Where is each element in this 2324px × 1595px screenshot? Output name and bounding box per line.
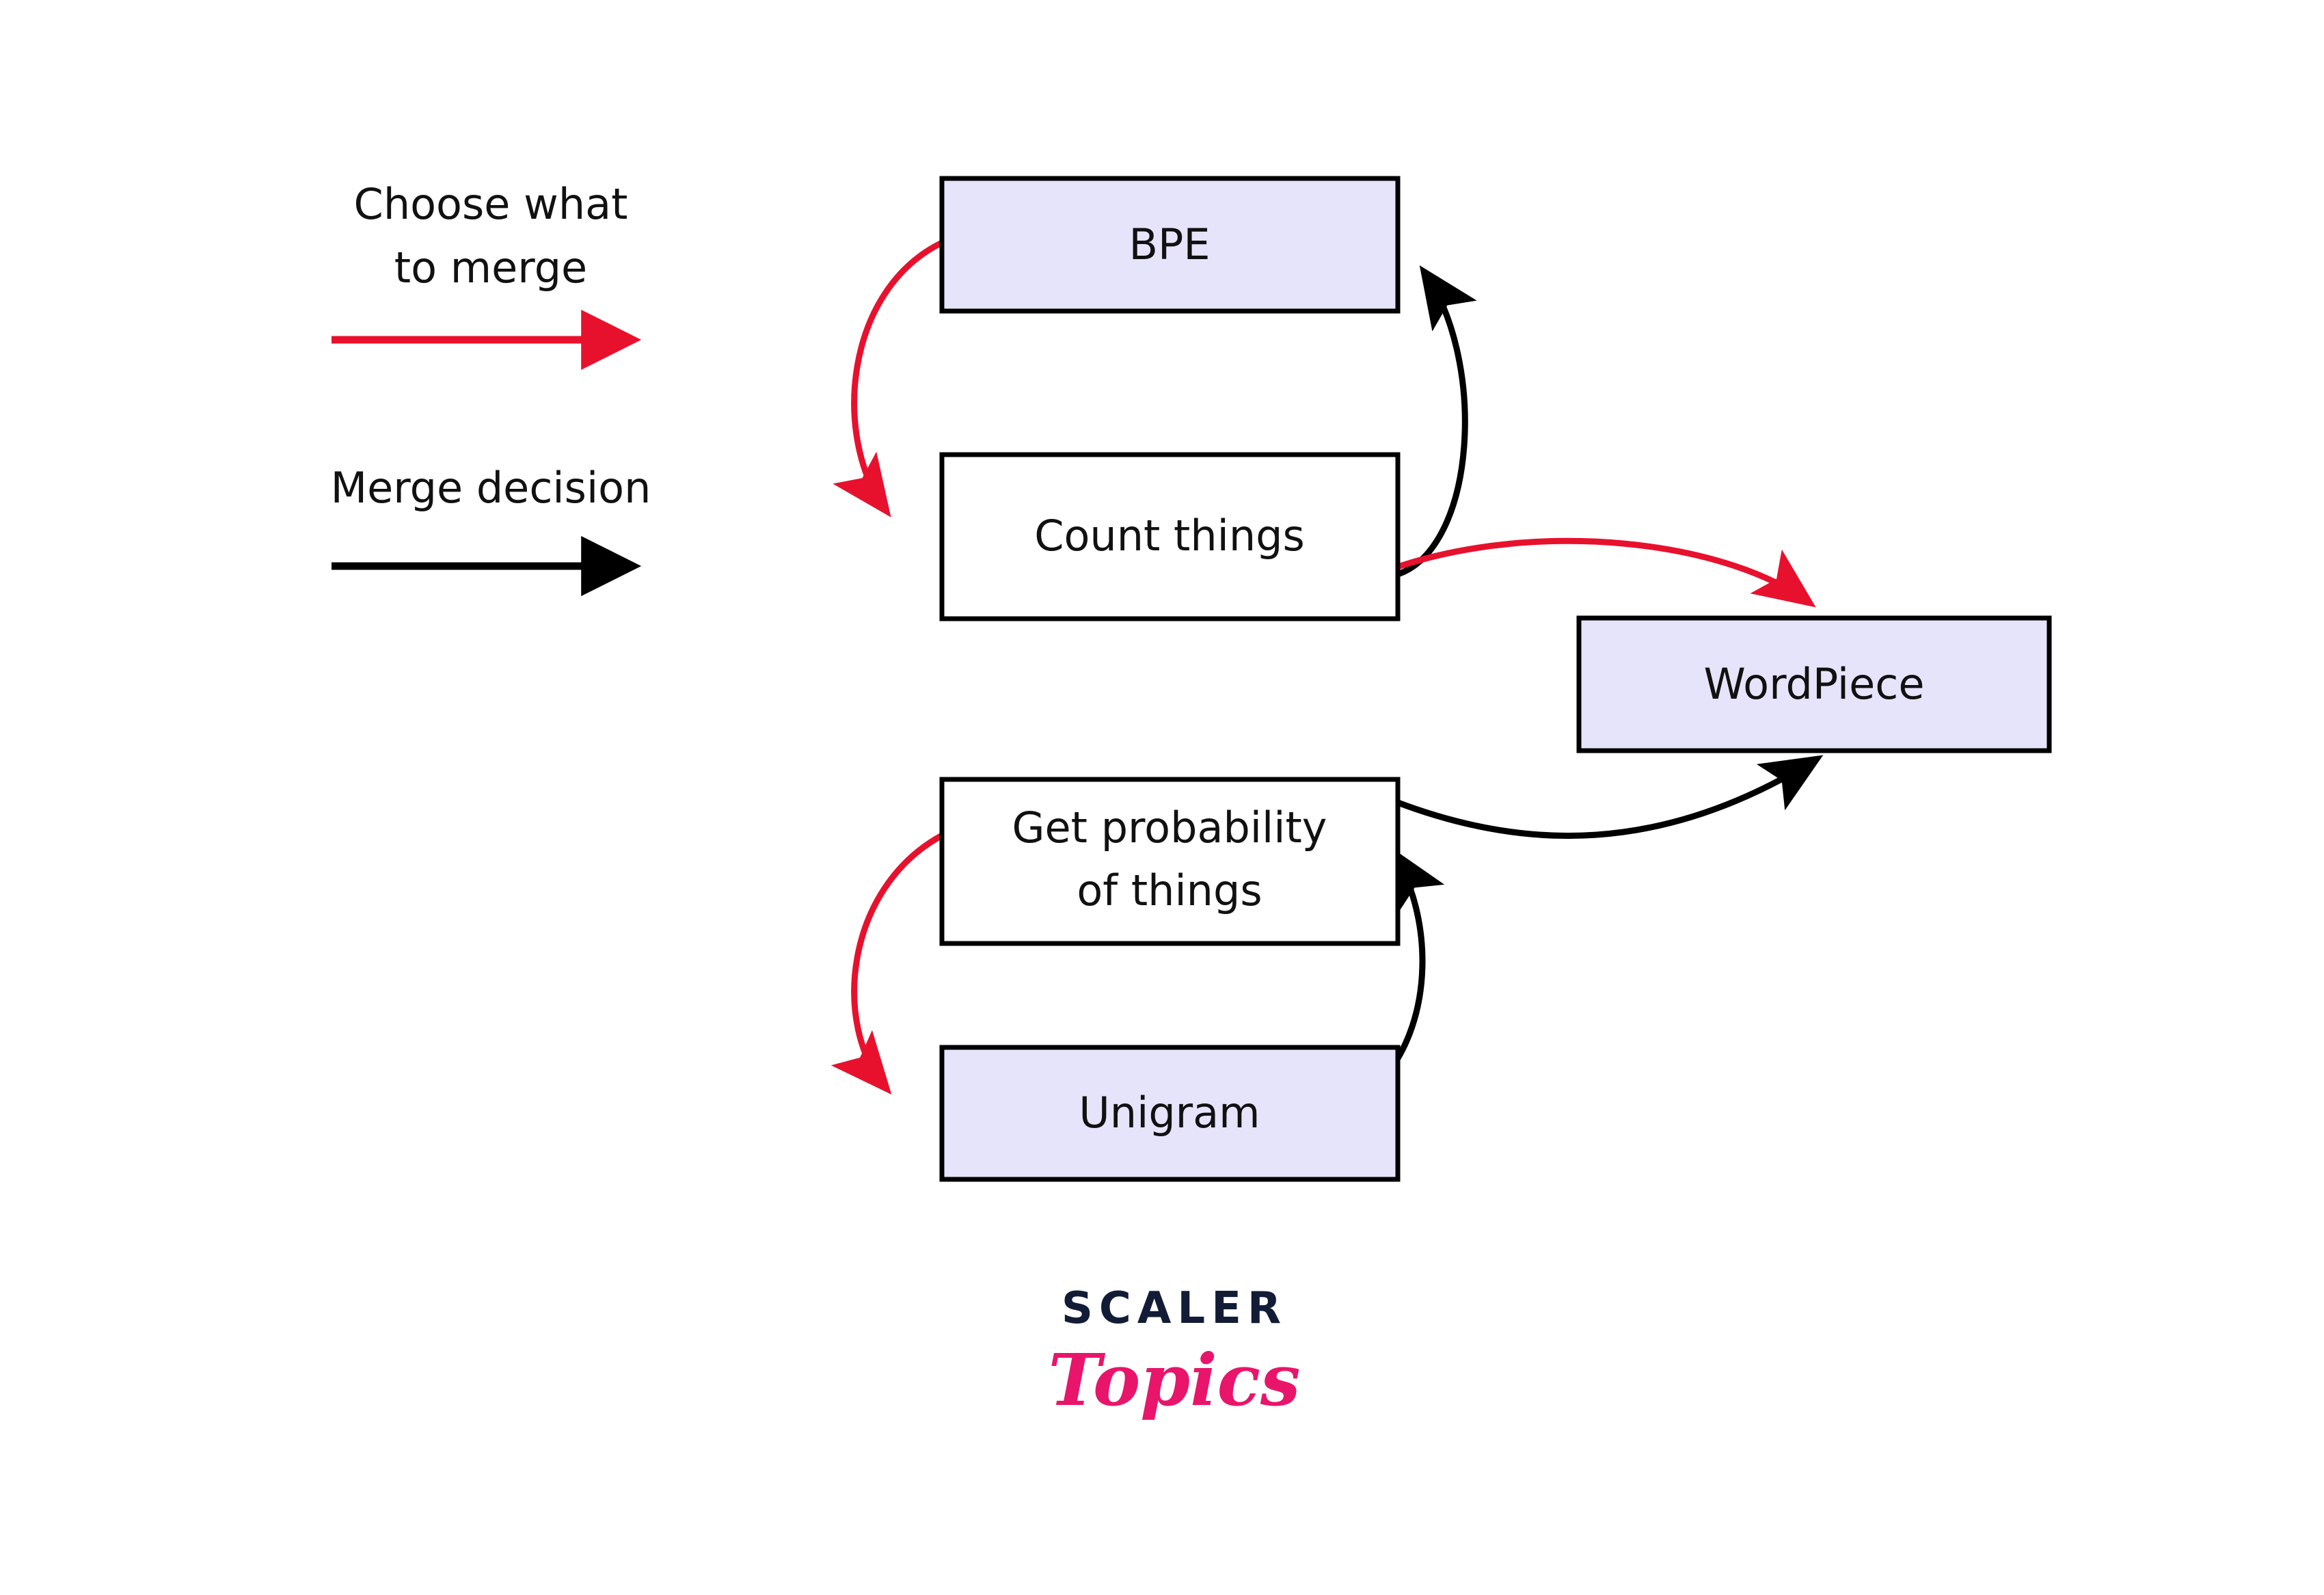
node-count-things[interactable]: Count things — [942, 455, 1398, 619]
legend-label-choose-line1: Choose what — [354, 179, 628, 229]
node-count-things-label: Count things — [1034, 511, 1305, 561]
node-bpe[interactable]: BPE — [942, 178, 1398, 311]
node-get-probability-label-line2: of things — [1077, 866, 1262, 915]
node-wordpiece-label: WordPiece — [1704, 659, 1925, 709]
legend-label-choose-line2: to merge — [394, 243, 587, 293]
legend-label-merge-decision: Merge decision — [331, 463, 651, 513]
node-get-probability-label-line1: Get probability — [1012, 803, 1327, 853]
node-bpe-label: BPE — [1129, 219, 1210, 269]
diagram-canvas: Choose what to merge Merge decision BPE — [0, 0, 2324, 1595]
node-wordpiece[interactable]: WordPiece — [1579, 618, 2049, 751]
logo-topics-text: Topics — [1049, 1338, 1301, 1422]
node-get-probability[interactable]: Get probability of things — [942, 779, 1398, 943]
scaler-topics-logo: SCALER Topics — [1049, 1283, 1301, 1422]
node-unigram[interactable]: Unigram — [942, 1047, 1398, 1179]
node-unigram-label: Unigram — [1079, 1088, 1260, 1138]
logo-scaler-text: SCALER — [1062, 1283, 1287, 1334]
